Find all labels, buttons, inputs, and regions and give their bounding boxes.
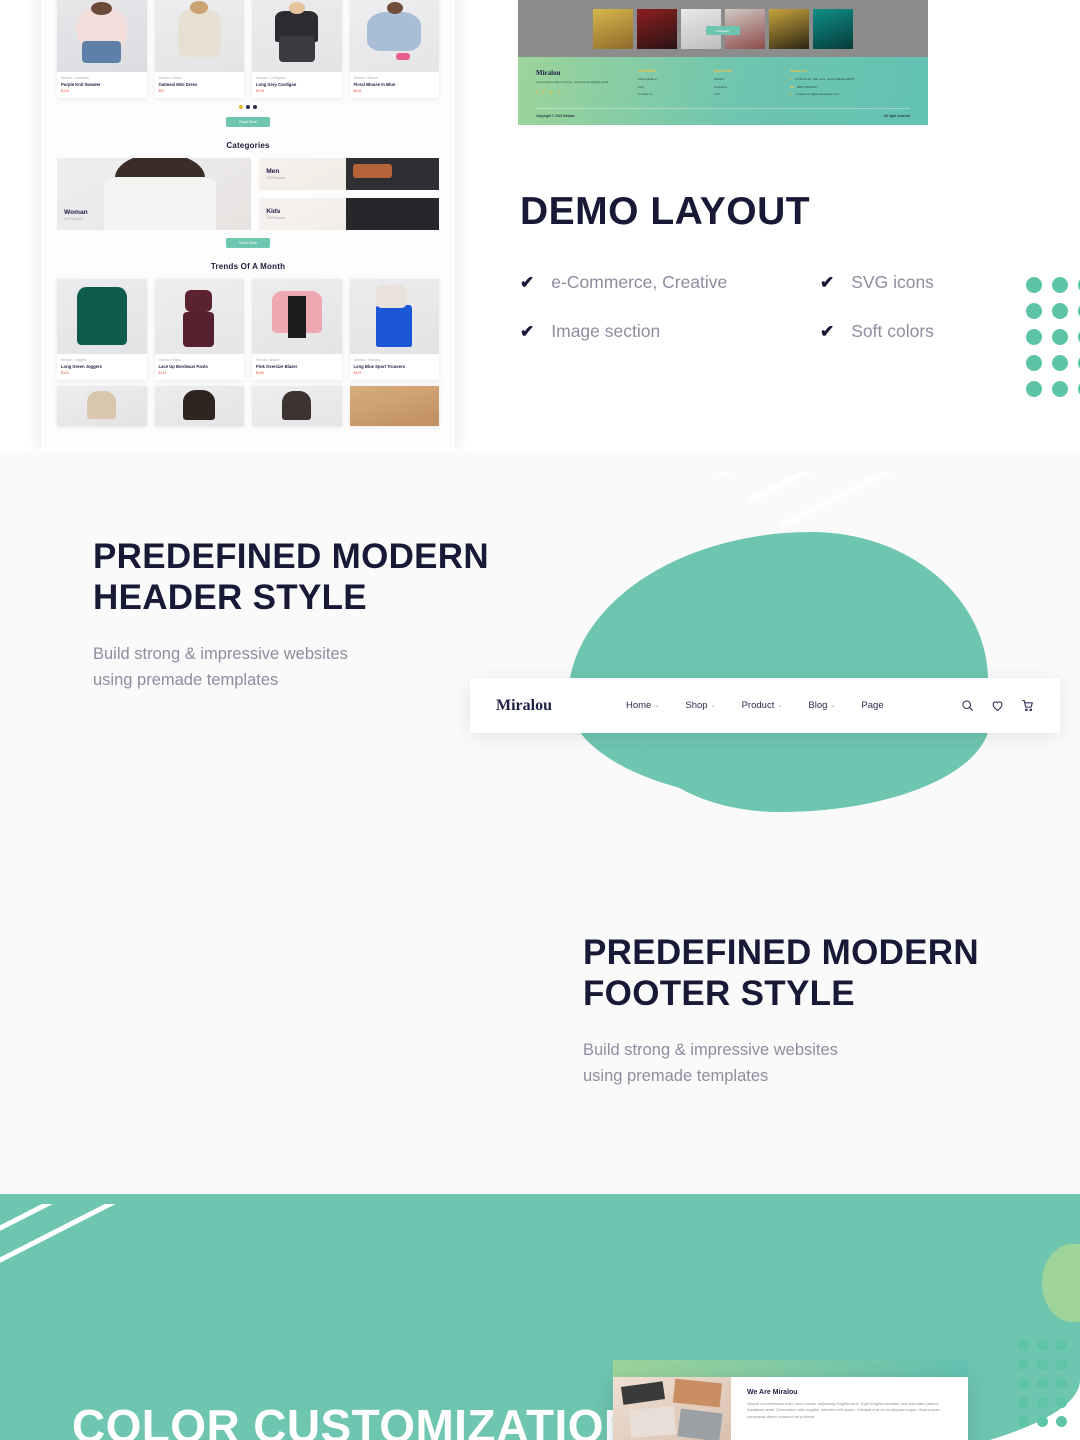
demo-layout-heading: DEMO LAYOUT [520, 190, 810, 234]
instagram-photo[interactable] [769, 9, 809, 49]
footer-style-text-block: PREDEFINED MODERN FOOTER STYLE Build str… [583, 932, 1043, 1090]
show-more-button[interactable]: Show More [226, 238, 270, 248]
product-price: $118 [354, 89, 436, 93]
color-customization-heading: COLOR CUSTOMIZATION [72, 1399, 638, 1440]
category-count: 140 Products [64, 217, 88, 221]
feature-row: ✔ Image section ✔ Soft colors [520, 321, 990, 370]
we-are-miralou-card: We Are Miralou Aliquet a scelerisque eni… [613, 1377, 968, 1440]
phone-icon: ☎ [790, 85, 794, 89]
column-heading: Information [638, 69, 700, 73]
feature-label: Image section [551, 321, 660, 342]
chevron-down-icon: ⌄ [777, 702, 782, 709]
product-card[interactable]: Woman / Sweaters Purple Knit Sweater $12… [57, 0, 147, 98]
category-label: Kids 108 Products [266, 208, 285, 220]
column-heading: Contact us [790, 69, 910, 73]
product-card[interactable]: Woman / Trousers Long Blue Sport Trouser… [350, 279, 440, 380]
contact-address-row: ●2715 Ash Dr. San Jose, South Dakota 834… [790, 77, 910, 81]
chevron-down-icon: ⌄ [830, 702, 835, 709]
product-meta: Woman / Blouse Floral Blouse In Blue $11… [350, 72, 440, 98]
column-heading: Quick Links [714, 69, 776, 73]
feature-item: ✔ Image section [520, 321, 820, 342]
product-card[interactable]: Woman / Blouse Floral Blouse In Blue $11… [350, 0, 440, 98]
product-image [252, 0, 342, 72]
product-category: Woman / Cardigans [256, 76, 338, 80]
instagram-photo[interactable] [637, 9, 677, 49]
heart-icon[interactable] [991, 699, 1004, 712]
category-card-woman[interactable]: Woman 140 Products [57, 158, 251, 230]
category-count: 128 Products [266, 176, 285, 180]
product-card[interactable] [350, 386, 440, 426]
check-icon: ✔ [820, 274, 834, 291]
navbar-menu: Home⌄ Shop⌄ Product⌄ Blog⌄ Page [626, 700, 884, 711]
navbar-logo[interactable]: Miralou [496, 697, 552, 715]
product-name: Long Green Joggers [61, 364, 143, 369]
category-card-kids[interactable]: Kids 108 Products [259, 198, 439, 230]
facebook-icon[interactable]: f [536, 90, 537, 96]
search-icon[interactable] [961, 699, 974, 712]
product-image [350, 386, 440, 426]
product-price: $97 [159, 89, 241, 93]
feature-label: Soft colors [851, 321, 934, 342]
category-name: Woman [64, 209, 88, 216]
category-name: Men [266, 168, 285, 175]
instagram-button[interactable]: Instagram [706, 26, 740, 35]
product-card[interactable] [57, 386, 147, 426]
card-body: Aliquet a scelerisque enim, arcu rutrum … [747, 1401, 954, 1420]
footer-link[interactable]: Checkout [714, 85, 776, 89]
product-price: $125 [61, 89, 143, 93]
footer-column-contact: Contact us ●2715 Ash Dr. San Jose, South… [790, 69, 910, 100]
product-meta: Woman / Dress Oatmeal Mini Dress $97 [155, 72, 245, 98]
product-name: Oatmeal Mini Dress [159, 82, 241, 87]
product-image [252, 279, 342, 354]
product-category: Woman / Dress [159, 76, 241, 80]
site-screenshot-mockup[interactable]: Bestsellers Top products of a month Woma… [41, 0, 455, 452]
product-card[interactable]: Woman / Blazer Pink Oversize Blazer $160 [252, 279, 342, 380]
feature-row: ✔ e-Commerce, Creative ✔ SVG icons [520, 272, 990, 321]
product-card[interactable]: Woman / Pants Lace Up Bordeaux Pants $11… [155, 279, 245, 380]
product-image [57, 386, 147, 426]
product-category: Woman / Pants [159, 358, 241, 362]
vimeo-icon[interactable]: V [541, 90, 544, 96]
product-meta: Woman / Joggers Long Green Joggers $129 [57, 354, 147, 380]
feature-item: ✔ e-Commerce, Creative [520, 272, 820, 293]
product-name: Long Blue Sport Trousers [354, 364, 436, 369]
product-category: Woman / Blazer [256, 358, 338, 362]
product-name: Pink Oversize Blazer [256, 364, 338, 369]
feature-label: e-Commerce, Creative [551, 272, 727, 293]
product-image [155, 386, 245, 426]
instagram-photo[interactable] [593, 9, 633, 49]
demo-feature-list: ✔ e-Commerce, Creative ✔ SVG icons ✔ Ima… [520, 272, 990, 370]
product-category: Woman / Blouse [354, 76, 436, 80]
footer-style-subtitle: Build strong & impressive websites using… [583, 1037, 1043, 1090]
check-icon: ✔ [520, 323, 534, 340]
footer-bottom-bar: Copyright © 2022 Miralou All right reser… [536, 108, 910, 118]
category-name: Kids [266, 208, 285, 215]
product-category: Woman / Joggers [61, 358, 143, 362]
product-meta: Woman / Sweaters Purple Knit Sweater $12… [57, 72, 147, 98]
product-meta: Woman / Cardigans Long Grey Cardigan $13… [252, 72, 342, 98]
site-navbar-mockup: Miralou Home⌄ Shop⌄ Product⌄ Blog⌄ Page [470, 678, 1060, 733]
carousel-pager[interactable] [41, 105, 455, 109]
product-price: $134 [256, 89, 338, 93]
contact-email-row: ✉miralou.com@shopexample.com [790, 92, 910, 96]
chevron-down-icon: ⌄ [654, 702, 659, 709]
nav-item-shop[interactable]: Shop⌄ [685, 700, 715, 711]
categories-grid: Woman 140 Products Men 128 Products [41, 158, 455, 230]
product-name: Purple Knit Sweater [61, 82, 143, 87]
product-price: $119 [354, 371, 436, 375]
predefined-styles-section: PREDEFINED MODERN HEADER STYLE Build str… [0, 452, 1080, 1194]
product-meta: Woman / Pants Lace Up Bordeaux Pants $11… [155, 354, 245, 380]
footer-style-heading: PREDEFINED MODERN FOOTER STYLE [583, 932, 1043, 1015]
trends-grid-row2 [41, 386, 455, 426]
feature-item: ✔ Soft colors [820, 321, 934, 342]
instagram-photo[interactable] [813, 9, 853, 49]
navbar-icons [961, 699, 1034, 712]
categories-block: Categories Woman 140 Products [41, 141, 455, 248]
footer-link[interactable]: About Miralou [638, 77, 700, 81]
product-price: $129 [61, 371, 143, 375]
product-card[interactable] [252, 386, 342, 426]
footer-column-information: Information About Miralou FAQ Contact Us [638, 69, 700, 100]
trends-title: Trends Of A Month [41, 262, 455, 271]
bestsellers-block: Bestsellers Top products of a month Woma… [41, 0, 455, 127]
check-icon: ✔ [820, 323, 834, 340]
nav-item-blog[interactable]: Blog⌄ [808, 700, 835, 711]
product-image [252, 386, 342, 426]
product-image [57, 0, 147, 72]
product-price: $114 [159, 371, 241, 375]
product-price: $160 [256, 371, 338, 375]
card-text: We Are Miralou Aliquet a scelerisque eni… [731, 1377, 968, 1440]
contact-phone: (808) 555-0111 [797, 85, 817, 89]
pager-dot[interactable] [253, 105, 257, 109]
product-card[interactable]: Woman / Cardigans Long Grey Cardigan $13… [252, 0, 342, 98]
teal-dot-pattern-bottom [1018, 1340, 1075, 1435]
category-count: 108 Products [266, 216, 285, 220]
category-card-men[interactable]: Men 128 Products [259, 158, 439, 190]
pager-dot[interactable] [246, 105, 250, 109]
read-more-button[interactable]: Read More [226, 117, 270, 127]
category-column: Men 128 Products Kids 108 Products [259, 158, 439, 230]
nav-item-home[interactable]: Home⌄ [626, 700, 659, 711]
footer-description: Lorem ipsum dolor sit amet, consectetur … [536, 80, 624, 85]
header-style-heading: PREDEFINED MODERN HEADER STYLE [93, 536, 563, 619]
product-name: Lace Up Bordeaux Pants [159, 364, 241, 369]
product-category: Woman / Sweaters [61, 76, 143, 80]
twitter-icon[interactable]: ᴠ [557, 90, 560, 96]
product-card[interactable]: Woman / Dress Oatmeal Mini Dress $97 [155, 0, 245, 98]
check-icon: ✔ [520, 274, 534, 291]
contact-phone-row: ☎(808) 555-0111 [790, 85, 910, 89]
product-name: Long Grey Cardigan [256, 82, 338, 87]
product-image [350, 279, 440, 354]
footer-column-quicklinks: Quick Links Wishlist Checkout Cart [714, 69, 776, 100]
instagram-strip-mockup: Instagram [518, 0, 928, 57]
nav-item-page[interactable]: Page [861, 700, 883, 711]
chevron-down-icon: ⌄ [711, 702, 716, 709]
feature-label: SVG icons [851, 272, 934, 293]
footer-logo: Miralou [536, 69, 624, 77]
product-meta: Woman / Blazer Pink Oversize Blazer $160 [252, 354, 342, 380]
trends-grid: Woman / Joggers Long Green Joggers $129 … [41, 279, 455, 380]
footer-mockup-small: Miralou Lorem ipsum dolor sit amet, cons… [518, 57, 928, 125]
footer-mock-body: Miralou Lorem ipsum dolor sit amet, cons… [518, 57, 928, 100]
category-label: Men 128 Products [266, 168, 285, 180]
cart-icon[interactable] [1021, 699, 1034, 712]
trends-block: Trends Of A Month Woman / Joggers Long G… [41, 262, 455, 426]
card-image [613, 1377, 731, 1440]
demo-layout-section: Bestsellers Top products of a month Woma… [0, 0, 1080, 452]
footer-link[interactable]: Cart [714, 92, 776, 96]
copyright-text: Copyright © 2022 Miralou [536, 114, 574, 118]
product-meta: Woman / Trousers Long Blue Sport Trouser… [350, 354, 440, 380]
feature-item: ✔ SVG icons [820, 272, 934, 293]
page-root: Bestsellers Top products of a month Woma… [0, 0, 1080, 1440]
product-image [57, 279, 147, 354]
category-label: Woman 140 Products [64, 209, 88, 221]
instagram-photos: Instagram [518, 0, 928, 49]
footer-social-icons[interactable]: f V ◎ ᴠ [536, 90, 624, 96]
card-title: We Are Miralou [747, 1389, 954, 1396]
product-image [155, 279, 245, 354]
product-card[interactable]: Woman / Joggers Long Green Joggers $129 [57, 279, 147, 380]
categories-title: Categories [41, 141, 455, 150]
product-card[interactable] [155, 386, 245, 426]
pager-dot[interactable] [239, 105, 243, 109]
contact-email: miralou.com@shopexample.com [796, 92, 840, 96]
product-image [155, 0, 245, 72]
bestsellers-grid: Woman / Sweaters Purple Knit Sweater $12… [41, 0, 455, 98]
teal-dot-pattern [1026, 277, 1080, 407]
header-style-text-block: PREDEFINED MODERN HEADER STYLE Build str… [93, 536, 563, 694]
mail-icon: ✉ [790, 92, 793, 96]
footer-brand: Miralou Lorem ipsum dolor sit amet, cons… [536, 69, 624, 100]
rights-text: All right reserved [884, 114, 910, 118]
location-pin-icon: ● [790, 77, 792, 81]
footer-link[interactable]: Wishlist [714, 77, 776, 81]
product-category: Woman / Trousers [354, 358, 436, 362]
footer-link[interactable]: Contact Us [638, 92, 700, 96]
contact-address: 2715 Ash Dr. San Jose, South Dakota 8347… [795, 77, 855, 81]
product-name: Floral Blouse In Blue [354, 82, 436, 87]
instagram-icon[interactable]: ◎ [549, 90, 553, 96]
nav-item-product[interactable]: Product⌄ [742, 700, 783, 711]
footer-link[interactable]: FAQ [638, 85, 700, 89]
product-image [350, 0, 440, 72]
